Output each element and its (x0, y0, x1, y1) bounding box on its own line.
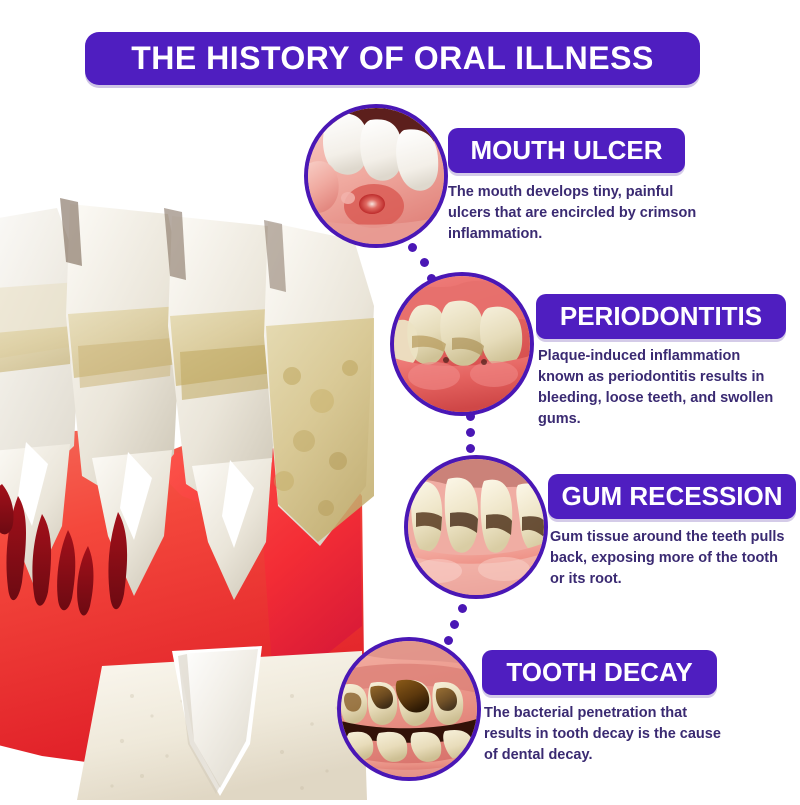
periodontitis-photo[interactable] (390, 272, 534, 416)
badge-label-gum-recession: GUM RECESSION (561, 481, 782, 512)
badge-label-periodontitis: PERIODONTITIS (560, 301, 762, 332)
connector-dot (466, 412, 475, 421)
mouth-ulcer-photo[interactable] (304, 104, 448, 248)
badge-mouth-ulcer[interactable]: MOUTH ULCER (448, 128, 685, 173)
gum-recession-photo-inner (408, 459, 544, 595)
badge-tooth-decay[interactable]: TOOTH DECAY (482, 650, 717, 695)
description-mouth-ulcer: The mouth develops tiny, painful ulcers … (448, 182, 704, 245)
connector-dot (444, 636, 453, 645)
description-gum-recession: Gum tissue around the teeth pulls back, … (550, 527, 796, 590)
gum-pocket (443, 357, 449, 363)
page-title-banner: THE HISTORY OF ORAL ILLNESS (85, 32, 700, 85)
infographic-canvas: THE HISTORY OF ORAL ILLNESS (0, 0, 800, 800)
connector-dot (408, 243, 417, 252)
mouth-ulcer-photo-inner (308, 108, 444, 244)
badge-periodontitis[interactable]: PERIODONTITIS (536, 294, 786, 339)
connector-dot (466, 428, 475, 437)
connector-dot (420, 258, 429, 267)
badge-gum-recession[interactable]: GUM RECESSION (548, 474, 796, 519)
periodontitis-photo-inner (394, 276, 530, 412)
connector-dot (466, 444, 475, 453)
gum-recession-illustration (408, 459, 544, 595)
badge-label-mouth-ulcer: MOUTH ULCER (470, 135, 662, 166)
connector-dot (450, 620, 459, 629)
tooth-decay-photo[interactable] (337, 637, 481, 781)
page-title: THE HISTORY OF ORAL ILLNESS (85, 32, 700, 85)
teeth-illustration-svg (0, 196, 382, 800)
mouth-ulcer-illustration (308, 108, 444, 244)
tooth-decay-illustration (341, 641, 477, 777)
diseased-teeth-illustration (0, 196, 382, 800)
description-tooth-decay: The bacterial penetration that results i… (484, 703, 734, 766)
description-periodontitis: Plaque-induced inflammation known as per… (538, 346, 786, 430)
gum-recession-photo[interactable] (404, 455, 548, 599)
ulcer-lesion (359, 194, 385, 214)
tooth-decay-photo-inner (341, 641, 477, 777)
periodontitis-illustration (394, 276, 530, 412)
badge-label-tooth-decay: TOOTH DECAY (506, 657, 692, 688)
gum-pocket (481, 359, 487, 365)
connector-dot (458, 604, 467, 613)
